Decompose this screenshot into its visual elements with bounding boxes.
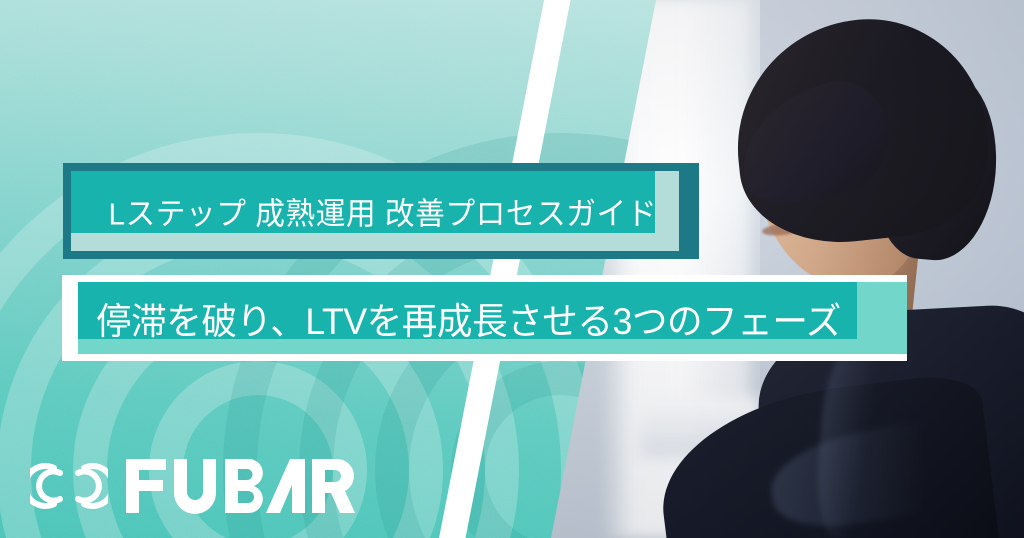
fubar-wordmark-icon bbox=[124, 457, 356, 515]
headline-primary-text: Lステップ 成熟運用 改善プロセスガイド bbox=[109, 189, 657, 234]
headline-primary-block: Lステップ 成熟運用 改善プロセスガイド bbox=[63, 163, 699, 259]
interlocking-rings-icon bbox=[30, 458, 108, 514]
headline-secondary-text: 停滞を破り、LTVを再成長させる3つのフェーズ bbox=[96, 291, 841, 345]
headline-secondary-block: 停滞を破り、LTVを再成長させる3つのフェーズ bbox=[62, 275, 907, 361]
brand-logo bbox=[30, 457, 356, 515]
brand-wordmark bbox=[124, 457, 356, 515]
promo-banner: Lステップ 成熟運用 改善プロセスガイド 停滞を破り、LTVを再成長させる3つの… bbox=[0, 0, 1024, 538]
